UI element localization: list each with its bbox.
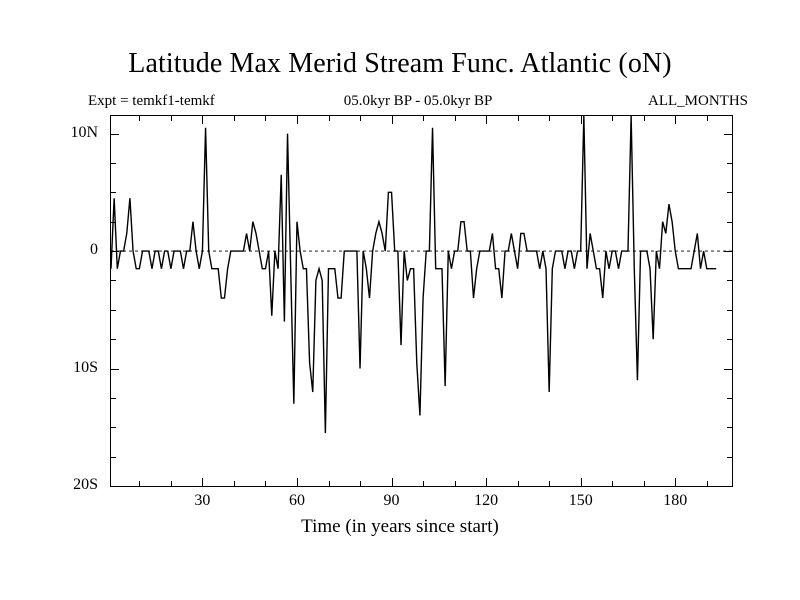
subtitle-row: Expt = temkf1-temkf 05.0kyr BP - 05.0kyr… xyxy=(88,93,748,113)
y-tick-minor xyxy=(111,163,116,164)
x-tick-label: 90 xyxy=(362,492,422,510)
y-tick-minor xyxy=(111,339,116,340)
x-tick-major-top xyxy=(202,116,203,124)
x-tick-minor-top xyxy=(707,116,708,121)
x-tick-label: 30 xyxy=(172,492,232,510)
x-tick-label: 120 xyxy=(456,492,516,510)
series-line-chart xyxy=(111,116,732,486)
data-series-line xyxy=(111,116,716,433)
y-tick-minor-right xyxy=(727,280,732,281)
y-tick-label: 10S xyxy=(38,359,98,377)
x-tick-minor xyxy=(455,481,456,486)
plot-frame xyxy=(110,115,733,487)
x-tick-major-top xyxy=(675,116,676,124)
y-tick-label: 10N xyxy=(38,124,98,142)
y-tick-minor-right xyxy=(727,398,732,399)
x-tick-major xyxy=(392,478,393,486)
y-tick-minor xyxy=(111,192,116,193)
x-tick-major xyxy=(486,478,487,486)
x-tick-minor-top xyxy=(423,116,424,121)
x-tick-major-top xyxy=(297,116,298,124)
y-tick-minor xyxy=(111,310,116,311)
x-axis-title: Time (in years since start) xyxy=(0,516,800,538)
y-tick-major xyxy=(111,251,119,252)
x-tick-minor xyxy=(265,481,266,486)
x-tick-major-top xyxy=(486,116,487,124)
x-tick-minor-top xyxy=(139,116,140,121)
plot-page: Latitude Max Merid Stream Func. Atlantic… xyxy=(0,0,800,600)
y-tick-minor-right xyxy=(727,310,732,311)
x-tick-minor xyxy=(549,481,550,486)
y-tick-minor xyxy=(111,222,116,223)
x-tick-minor xyxy=(171,481,172,486)
x-tick-minor xyxy=(644,481,645,486)
y-tick-minor xyxy=(111,457,116,458)
y-tick-minor-right xyxy=(727,222,732,223)
x-tick-minor-top xyxy=(549,116,550,121)
x-tick-major xyxy=(675,478,676,486)
x-tick-minor xyxy=(329,481,330,486)
months-label: ALL_MONTHS xyxy=(648,93,748,110)
y-tick-minor-right xyxy=(727,192,732,193)
x-tick-minor-top xyxy=(234,116,235,121)
x-tick-minor-top xyxy=(455,116,456,121)
x-tick-major xyxy=(202,478,203,486)
x-tick-minor-top xyxy=(612,116,613,121)
y-tick-minor-right xyxy=(727,163,732,164)
x-tick-minor-top xyxy=(360,116,361,121)
y-tick-major-right xyxy=(724,134,732,135)
x-tick-major-top xyxy=(392,116,393,124)
x-tick-label: 60 xyxy=(267,492,327,510)
x-tick-minor xyxy=(707,481,708,486)
x-tick-minor-top xyxy=(518,116,519,121)
x-tick-label: 180 xyxy=(645,492,705,510)
x-tick-minor xyxy=(139,481,140,486)
x-tick-minor xyxy=(360,481,361,486)
x-tick-major xyxy=(297,478,298,486)
y-tick-minor xyxy=(111,398,116,399)
x-tick-minor xyxy=(612,481,613,486)
x-tick-minor xyxy=(423,481,424,486)
x-tick-minor-top xyxy=(329,116,330,121)
y-tick-major-right xyxy=(724,251,732,252)
x-tick-major xyxy=(581,478,582,486)
y-tick-label: 0 xyxy=(38,241,98,259)
y-tick-major xyxy=(111,134,119,135)
x-tick-minor-top xyxy=(265,116,266,121)
x-tick-minor-top xyxy=(644,116,645,121)
y-tick-minor-right xyxy=(727,339,732,340)
y-tick-label: 20S xyxy=(38,476,98,494)
y-tick-minor xyxy=(111,427,116,428)
y-tick-minor xyxy=(111,280,116,281)
x-tick-label: 150 xyxy=(551,492,611,510)
plot-area xyxy=(111,116,732,486)
y-tick-minor-right xyxy=(727,457,732,458)
page-title: Latitude Max Merid Stream Func. Atlantic… xyxy=(0,48,800,80)
x-tick-major-top xyxy=(581,116,582,124)
x-tick-minor-top xyxy=(171,116,172,121)
y-tick-major xyxy=(111,369,119,370)
y-tick-minor-right xyxy=(727,427,732,428)
y-tick-major-right xyxy=(724,369,732,370)
x-tick-minor xyxy=(518,481,519,486)
x-tick-minor xyxy=(234,481,235,486)
